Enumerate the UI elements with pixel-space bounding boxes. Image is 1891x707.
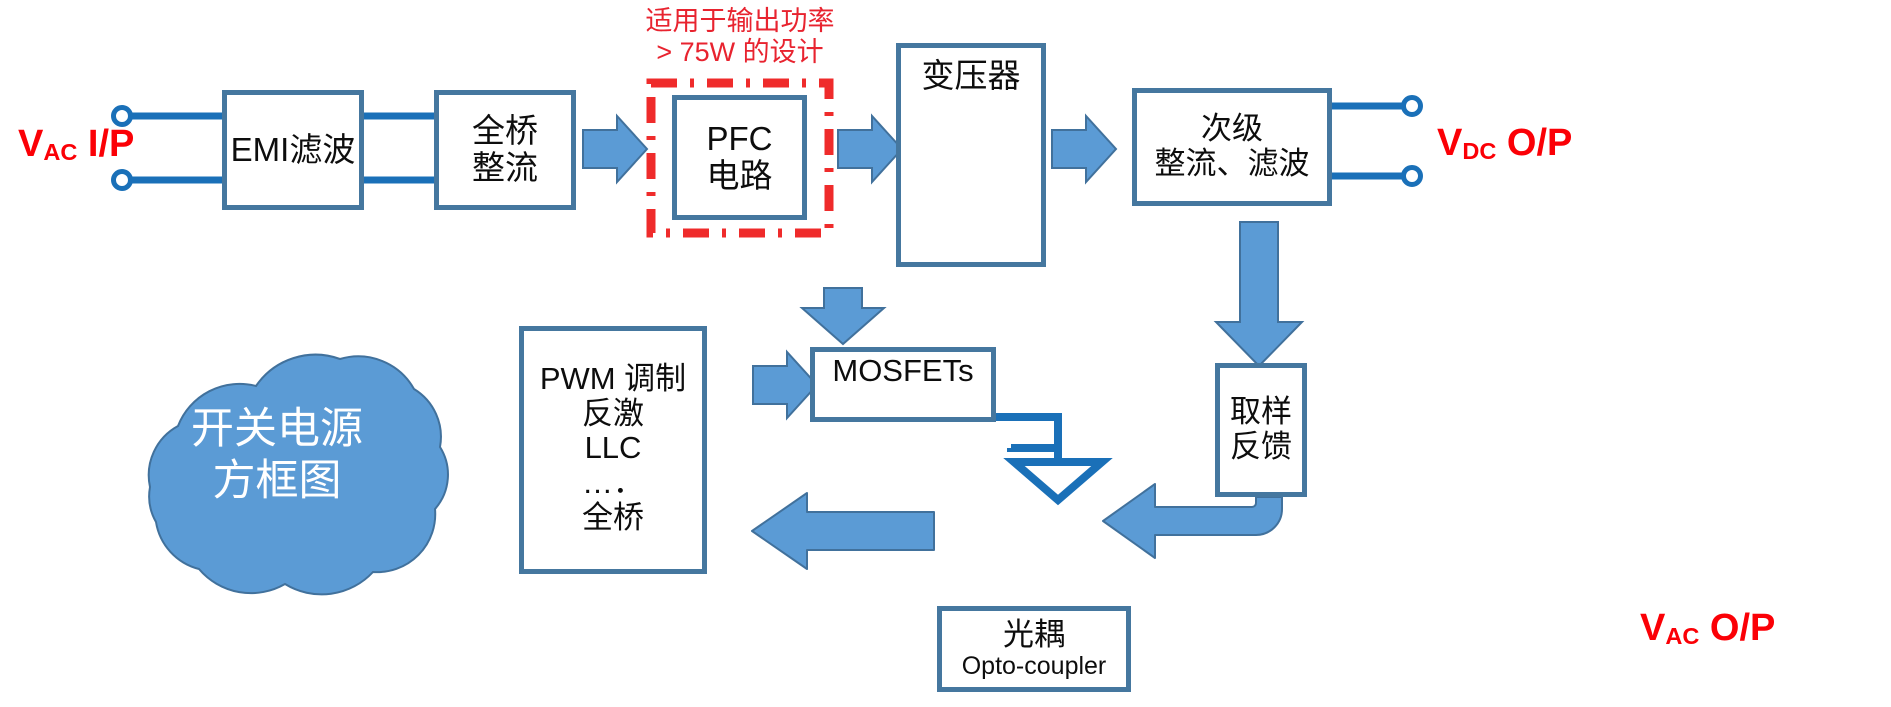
vacout-subscript: AC	[1665, 623, 1699, 649]
block-opto-coupler[interactable]: 光耦 Opto-coupler	[937, 606, 1131, 692]
input-voltage-label: VAC I/P	[18, 123, 134, 166]
block-transformer[interactable]: 变压器	[896, 43, 1046, 267]
cloud-title-text: 开关电源 方框图	[117, 403, 437, 508]
chevron-arrow-icon	[1052, 116, 1116, 182]
terminal-circle-icon	[1404, 98, 1421, 115]
vac-subscript: AC	[43, 139, 77, 165]
output-dc-voltage-label: VDC O/P	[1437, 122, 1572, 165]
cloud-title-line-2: 方框图	[117, 455, 437, 507]
output-terminals-group	[1332, 98, 1421, 185]
chevron-arrow-icon	[802, 288, 884, 344]
vdc-tail: O/P	[1496, 122, 1572, 164]
block-label-line: 变压器	[922, 58, 1021, 95]
block-sampling-feedback[interactable]: 取样 反馈	[1215, 363, 1307, 497]
block-label-line: 整流	[472, 150, 538, 187]
block-label-line: 电路	[707, 158, 773, 195]
block-label-line: 反激	[582, 397, 644, 432]
block-label-line: 反馈	[1230, 430, 1292, 465]
terminal-circle-icon	[114, 108, 131, 125]
block-label-line: 次级	[1201, 112, 1263, 147]
vdc-main: V	[1437, 122, 1462, 164]
block-label-line: 取样	[1230, 395, 1292, 430]
ground-symbol-icon	[1014, 462, 1102, 500]
annotation-line-2: > 75W 的设计	[620, 37, 860, 68]
vdc-subscript: DC	[1462, 138, 1496, 164]
vacout-main: V	[1640, 607, 1665, 649]
block-label-line: 全桥	[472, 113, 538, 150]
pfc-annotation-note: 适用于输出功率 > 75W 的设计	[620, 6, 860, 69]
block-label-line: MOSFETs	[832, 354, 973, 389]
block-label-line: PWM 调制	[540, 362, 686, 397]
block-mosfets[interactable]: MOSFETs	[810, 347, 996, 422]
terminal-circle-icon	[1404, 168, 1421, 185]
block-emi-filter[interactable]: EMI滤波	[222, 90, 364, 210]
block-label-line: 整流、滤波	[1155, 147, 1310, 182]
block-label-line: Opto-coupler	[962, 652, 1107, 680]
chevron-arrow-icon	[751, 493, 934, 569]
block-label-line: LLC	[585, 431, 642, 466]
chevron-arrow-icon	[753, 352, 817, 418]
block-pwm-control[interactable]: PWM 调制 反激 LLC …． 全桥	[519, 326, 707, 574]
block-label-line: 光耦	[1003, 618, 1065, 653]
block-diagram-canvas: EMI滤波 全桥 整流 PFC 电路 变压器 次级 整流、滤波 PWM 调制 反…	[0, 0, 1891, 707]
block-label-line: …．	[582, 466, 644, 501]
emi-to-rectifier-wires	[360, 116, 438, 180]
chevron-arrow-icon	[583, 116, 647, 182]
block-label-line: EMI滤波	[231, 132, 356, 169]
terminal-circle-icon	[114, 172, 131, 189]
block-pfc-circuit[interactable]: PFC 电路	[672, 95, 807, 220]
vac-main: V	[18, 123, 43, 165]
block-label-line: 全桥	[582, 501, 644, 536]
cloud-title-line-1: 开关电源	[117, 403, 437, 455]
vacout-tail: O/P	[1699, 607, 1775, 649]
chevron-arrow-icon	[838, 116, 902, 182]
vac-tail: I/P	[77, 123, 134, 165]
block-secondary-rectify-filter[interactable]: 次级 整流、滤波	[1132, 88, 1332, 206]
annotation-line-1: 适用于输出功率	[620, 6, 860, 37]
chevron-arrow-icon	[1216, 222, 1302, 366]
block-bridge-rectifier[interactable]: 全桥 整流	[434, 90, 576, 210]
mosfet-ground-wire	[996, 417, 1058, 464]
output-ac-voltage-label: VAC O/P	[1640, 607, 1775, 650]
block-label-line: PFC	[707, 121, 773, 158]
